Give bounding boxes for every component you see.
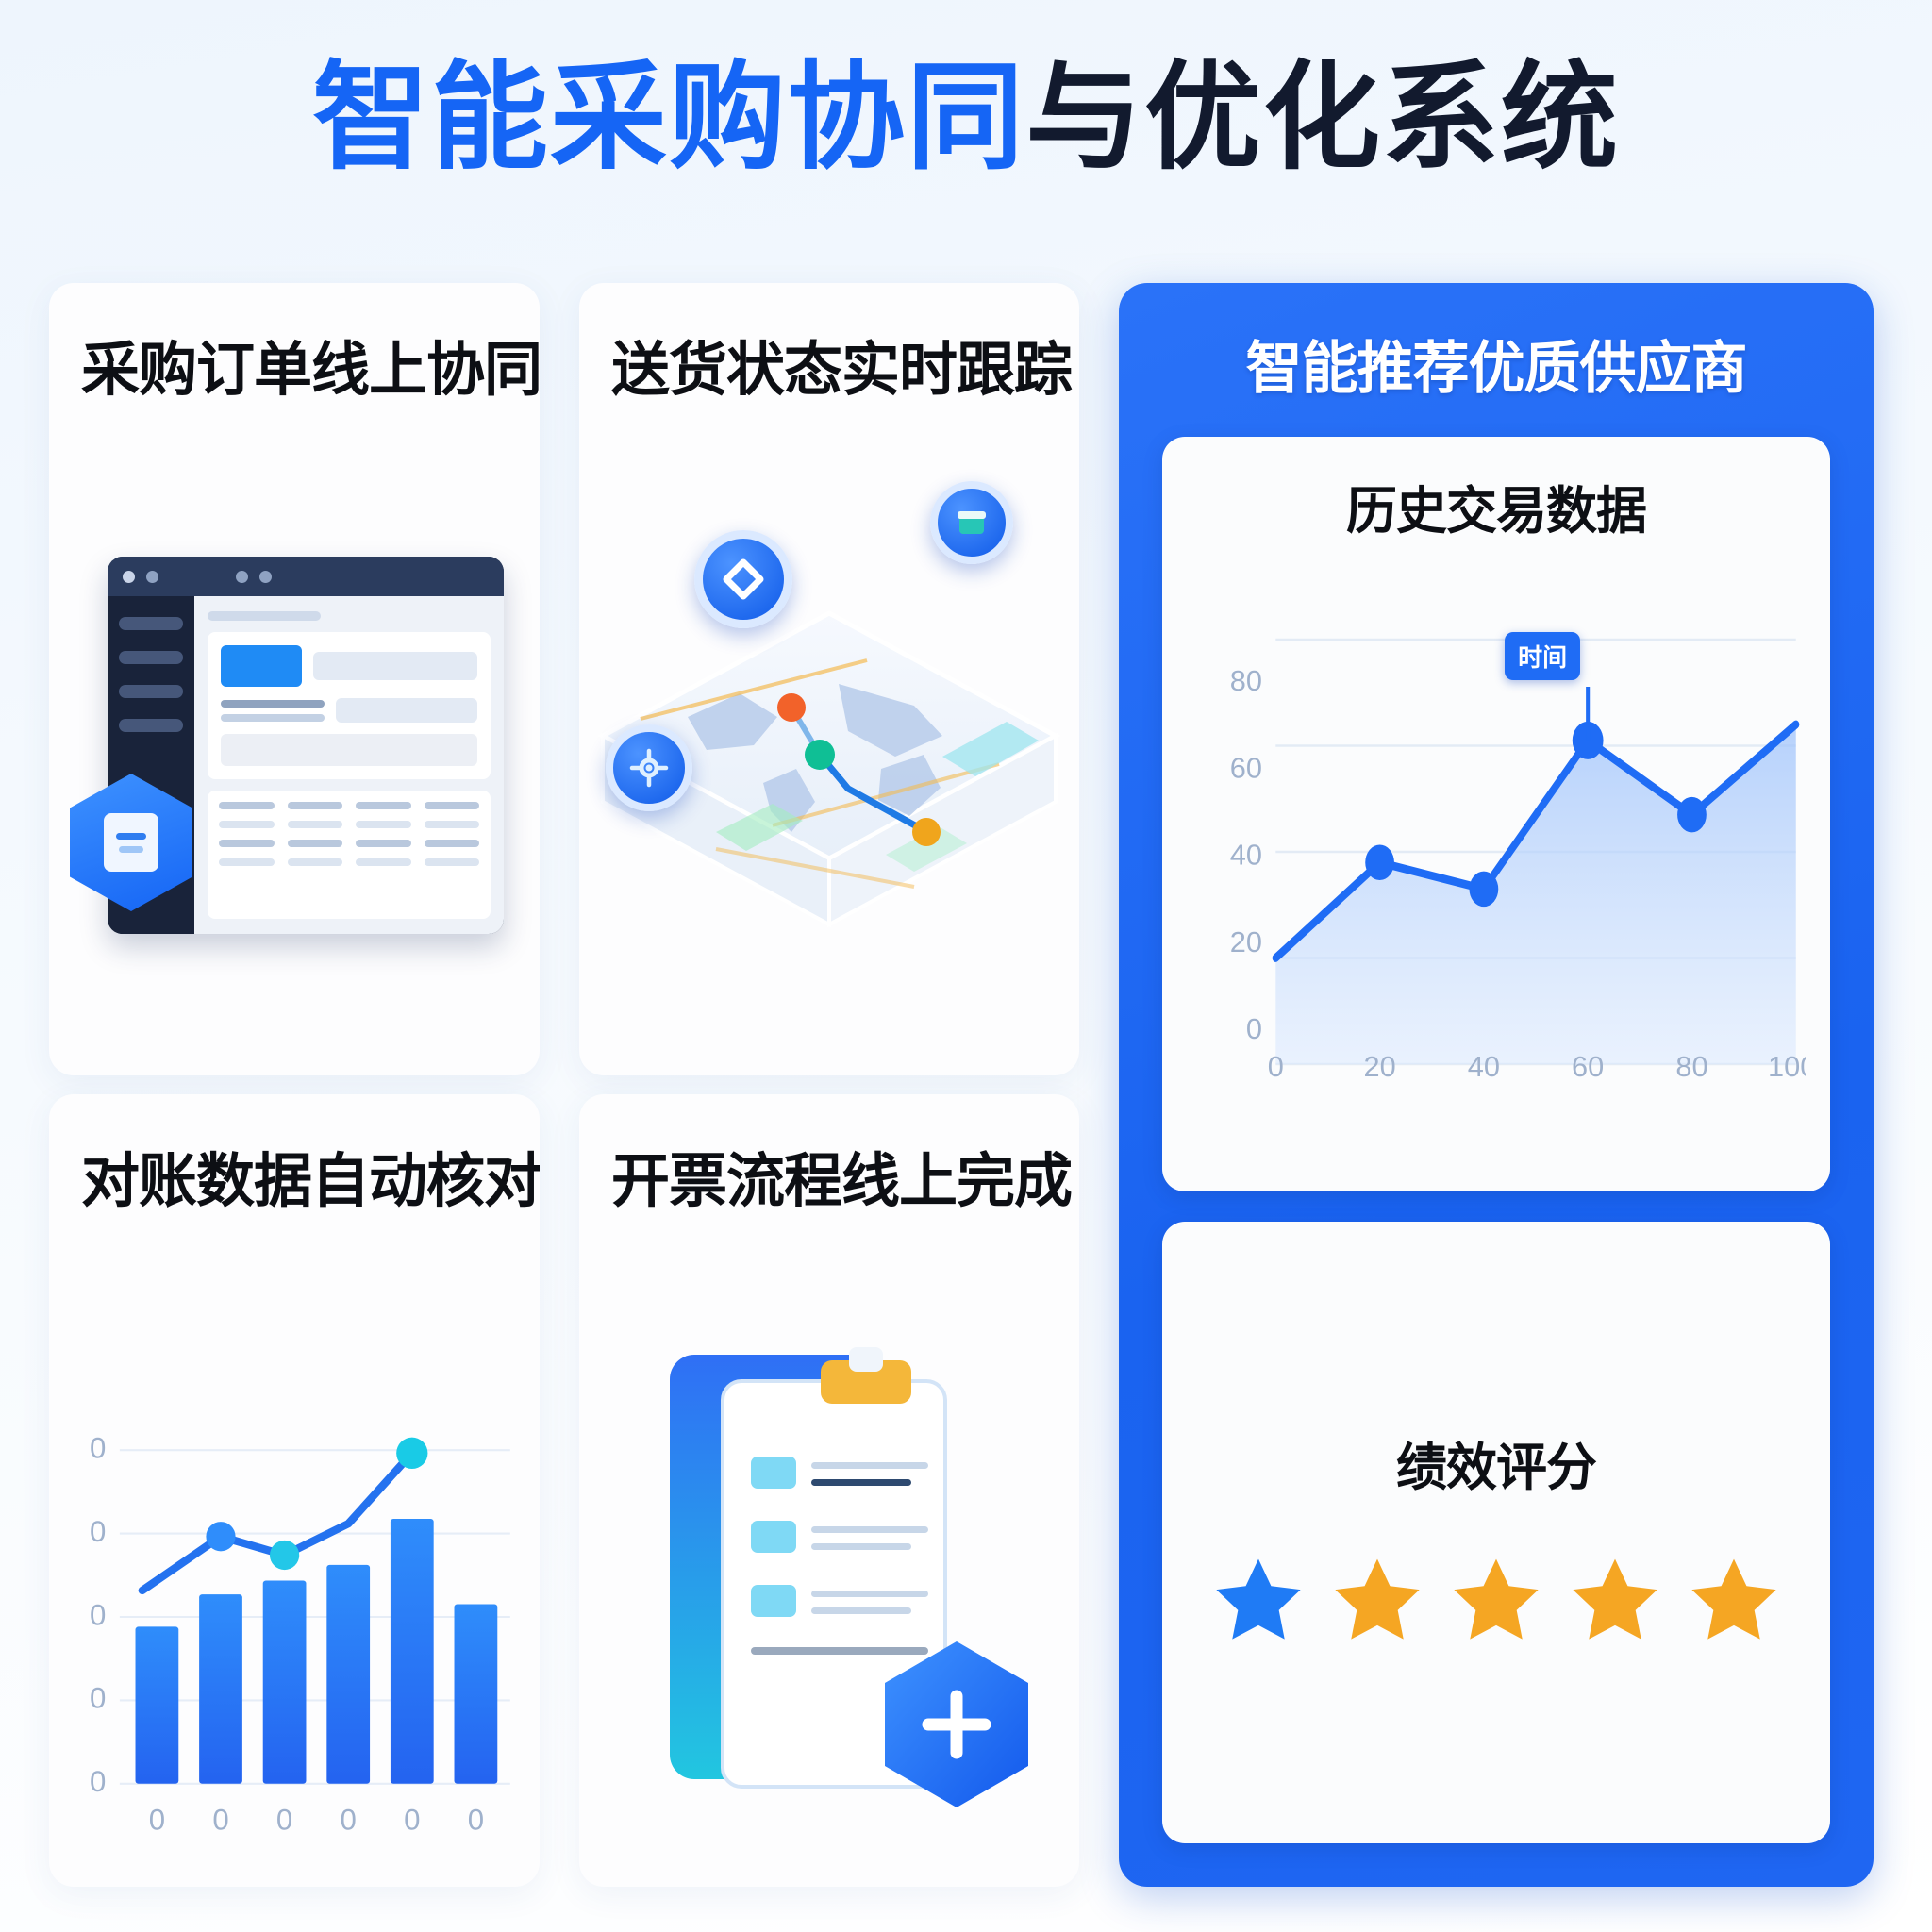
mock-form-row	[221, 698, 477, 723]
y-tick-0: 0	[1246, 1012, 1262, 1045]
card-delivery-tracking[interactable]: 送货状态实时跟踪	[579, 283, 1079, 1075]
warehouse-box-icon[interactable]	[930, 481, 1013, 564]
history-area-chart: 0 20 40 60 80 0 20 40 60 80 100 时间	[1187, 592, 1806, 1158]
bar-x-tick: 0	[212, 1804, 228, 1837]
star-icon-filled-blue[interactable]	[1209, 1551, 1307, 1649]
card-title-delivery-tracking: 送货状态实时跟踪	[611, 336, 1047, 406]
x-tick-0: 0	[1268, 1050, 1284, 1083]
star-icon-filled-gold[interactable]	[1328, 1551, 1426, 1649]
mock-input-field	[336, 698, 477, 723]
mock-primary-button	[221, 645, 302, 687]
bar-y-tick-4: 0	[90, 1432, 106, 1465]
mock-form-panel	[208, 632, 491, 779]
bar-y-tick-1: 0	[90, 1682, 106, 1715]
map-location-pin-icon[interactable]	[694, 530, 792, 628]
star-icon-filled-gold[interactable]	[1566, 1551, 1664, 1649]
mock-sidebar-item	[119, 651, 183, 664]
table-row	[219, 858, 479, 866]
mock-data-table	[208, 791, 491, 919]
card-reconciliation[interactable]: 对账数据自动核对	[49, 1094, 540, 1887]
bar-y-tick-0: 0	[90, 1765, 106, 1798]
table-row	[219, 840, 479, 847]
bar-x-tick: 0	[276, 1804, 292, 1837]
history-chart-card[interactable]: 历史交易数据	[1162, 437, 1830, 1191]
clipboard-illustration	[579, 1302, 1079, 1887]
mock-toolbar-strip	[221, 734, 477, 766]
x-tick-80: 80	[1675, 1050, 1707, 1083]
table-row	[219, 821, 479, 828]
x-tick-100: 100	[1768, 1050, 1806, 1083]
performance-score-card[interactable]: 绩效评分	[1162, 1222, 1830, 1843]
mock-main-area	[194, 596, 504, 934]
mock-form-row	[221, 645, 477, 687]
dashboard-window-illustration	[49, 491, 540, 1075]
card-title-invoicing: 开票流程线上完成	[611, 1147, 1047, 1217]
card-invoicing[interactable]: 开票流程线上完成	[579, 1094, 1079, 1887]
star-icon-filled-gold[interactable]	[1685, 1551, 1783, 1649]
page-title: 智能采购协同与优化系统	[0, 49, 1932, 187]
mock-label-group	[221, 700, 325, 722]
isometric-world-map-illustration	[579, 491, 1079, 1075]
settings-gear-icon[interactable]	[606, 724, 692, 811]
bar-line-combo-chart: 0 0 0 0 0 0 0 0 0 0 0	[49, 1302, 540, 1887]
card-purchase-order[interactable]: 采购订单线上协同	[49, 283, 540, 1075]
window-dot-icon	[236, 571, 248, 583]
mock-input-field	[313, 652, 477, 680]
y-tick-40: 40	[1230, 839, 1262, 872]
page-title-blue: 智能采购协同	[312, 53, 1025, 183]
rating-stars[interactable]	[1209, 1551, 1783, 1649]
mock-sidebar-item	[119, 617, 183, 630]
window-dot-icon	[259, 571, 272, 583]
performance-score-title: 绩效评分	[1396, 1425, 1596, 1500]
mock-window-titlebar	[108, 557, 504, 596]
history-chart-title: 历史交易数据	[1187, 469, 1806, 543]
bar-x-tick: 0	[149, 1804, 165, 1837]
bar-x-tick: 0	[341, 1804, 357, 1837]
y-tick-80: 80	[1230, 664, 1262, 697]
bar-x-tick: 0	[468, 1804, 484, 1837]
card-title-reconciliation: 对账数据自动核对	[81, 1147, 508, 1217]
window-dot-icon	[146, 571, 158, 583]
mock-sidebar-item	[119, 719, 183, 732]
table-row	[219, 802, 479, 809]
chart-tooltip-badge: 时间	[1505, 632, 1580, 680]
x-tick-20: 20	[1363, 1050, 1395, 1083]
y-tick-60: 60	[1230, 751, 1262, 784]
window-dot-icon	[123, 571, 135, 583]
page-title-dark: 与优化系统	[1025, 53, 1620, 183]
bar-x-tick: 0	[404, 1804, 420, 1837]
bar-y-tick-2: 0	[90, 1598, 106, 1631]
panel-title: 智能推荐优质供应商	[1162, 323, 1830, 405]
card-title-purchase-order: 采购订单线上协同	[81, 336, 508, 406]
recommendation-panel: 智能推荐优质供应商 历史交易数据	[1119, 283, 1874, 1887]
page-header: 智能采购协同与优化系统	[0, 49, 1932, 187]
y-tick-20: 20	[1230, 925, 1262, 958]
bar-y-tick-3: 0	[90, 1515, 106, 1548]
mock-breadcrumb	[208, 611, 321, 621]
star-icon-filled-gold[interactable]	[1447, 1551, 1545, 1649]
feature-grid: 采购订单线上协同	[49, 283, 1883, 1887]
mock-sidebar-item	[119, 685, 183, 698]
x-tick-40: 40	[1468, 1050, 1500, 1083]
x-tick-60: 60	[1572, 1050, 1604, 1083]
